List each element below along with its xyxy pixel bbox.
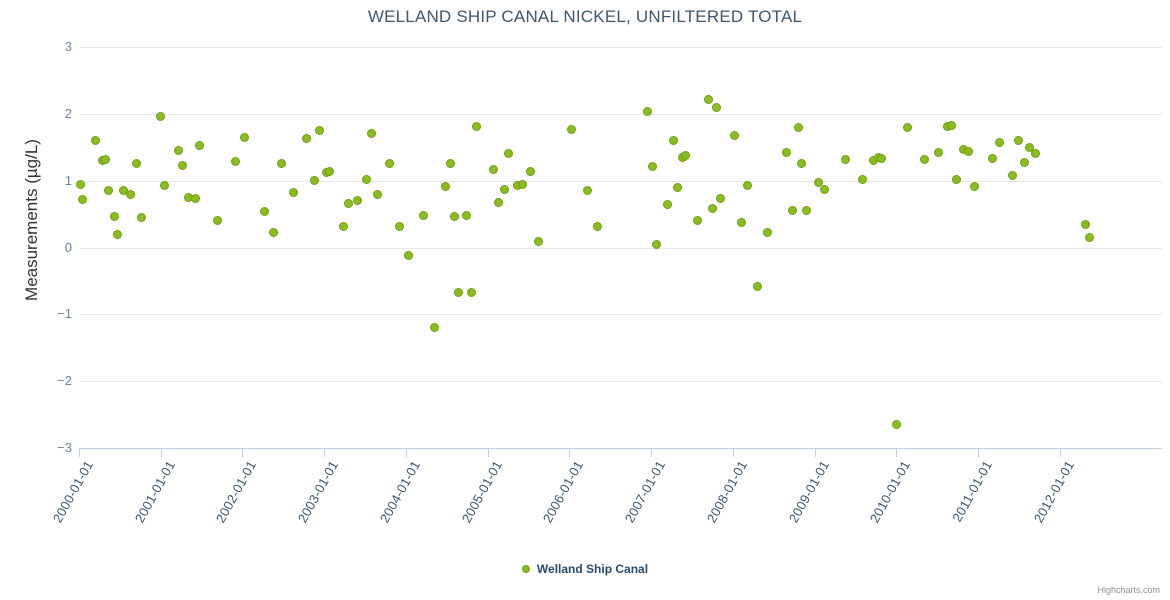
x-axis-tick-label: 2012-01-01 xyxy=(1021,458,1077,542)
y-axis-tick-label: 1 xyxy=(26,173,72,188)
data-point[interactable] xyxy=(820,185,829,194)
data-point[interactable] xyxy=(446,159,455,168)
y-axis-tick-label: 2 xyxy=(26,106,72,121)
x-axis-tick-label: 2005-01-01 xyxy=(449,458,505,542)
data-point[interactable] xyxy=(277,159,286,168)
x-axis-tick-mark xyxy=(488,449,489,457)
data-point[interactable] xyxy=(269,228,278,237)
data-point[interactable] xyxy=(156,112,165,121)
x-axis-tick-mark xyxy=(79,449,80,457)
data-point[interactable] xyxy=(132,159,141,168)
data-point[interactable] xyxy=(1031,149,1040,158)
data-point[interactable] xyxy=(76,180,85,189)
data-point[interactable] xyxy=(113,230,122,239)
x-axis-tick-label: 2003-01-01 xyxy=(286,458,342,542)
data-point[interactable] xyxy=(325,167,334,176)
data-point[interactable] xyxy=(583,186,592,195)
x-axis-tick-label: 2009-01-01 xyxy=(776,458,832,542)
data-point[interactable] xyxy=(289,188,298,197)
x-axis-tick-mark xyxy=(569,449,570,457)
x-axis-tick-label: 2007-01-01 xyxy=(612,458,668,542)
data-point[interactable] xyxy=(663,200,672,209)
x-axis-tick-mark xyxy=(242,449,243,457)
data-point[interactable] xyxy=(877,154,886,163)
x-axis-tick-label: 2004-01-01 xyxy=(367,458,423,542)
data-point[interactable] xyxy=(952,175,961,184)
data-point[interactable] xyxy=(995,138,1004,147)
y-axis-tick-labels: 3210−1−2−3 xyxy=(16,47,72,448)
data-point[interactable] xyxy=(302,134,311,143)
data-point[interactable] xyxy=(195,141,204,150)
data-point[interactable] xyxy=(240,133,249,142)
data-point[interactable] xyxy=(782,148,791,157)
x-axis-tick-mark xyxy=(978,449,979,457)
data-point[interactable] xyxy=(110,212,119,221)
data-point[interactable] xyxy=(353,196,362,205)
data-point[interactable] xyxy=(737,218,746,227)
data-point[interactable] xyxy=(964,147,973,156)
data-point[interactable] xyxy=(730,131,739,140)
legend-item[interactable]: Welland Ship Canal xyxy=(522,562,648,576)
data-point[interactable] xyxy=(712,103,721,112)
data-point[interactable] xyxy=(534,237,543,246)
x-axis-tick-mark xyxy=(324,449,325,457)
data-point[interactable] xyxy=(970,182,979,191)
data-point[interactable] xyxy=(462,211,471,220)
data-point[interactable] xyxy=(191,194,200,203)
data-point[interactable] xyxy=(1020,158,1029,167)
data-point[interactable] xyxy=(78,195,87,204)
y-axis-tick-label: 3 xyxy=(26,39,72,54)
data-point[interactable] xyxy=(708,204,717,213)
data-point[interactable] xyxy=(526,167,535,176)
data-point[interactable] xyxy=(500,185,509,194)
data-point[interactable] xyxy=(160,181,169,190)
data-point[interactable] xyxy=(1008,171,1017,180)
data-point[interactable] xyxy=(858,175,867,184)
y-axis-tick-label: −3 xyxy=(26,440,72,455)
data-point[interactable] xyxy=(704,95,713,104)
data-point[interactable] xyxy=(91,136,100,145)
data-point[interactable] xyxy=(137,213,146,222)
data-point[interactable] xyxy=(903,123,912,132)
gridline xyxy=(79,381,1162,382)
data-point[interactable] xyxy=(1085,233,1094,242)
x-axis-tick-mark xyxy=(815,449,816,457)
data-point[interactable] xyxy=(467,288,476,297)
data-point[interactable] xyxy=(362,175,371,184)
data-point[interactable] xyxy=(652,240,661,249)
data-point[interactable] xyxy=(419,211,428,220)
x-axis-tick-label: 2002-01-01 xyxy=(204,458,260,542)
data-point[interactable] xyxy=(794,123,803,132)
x-axis-tick-mark xyxy=(896,449,897,457)
data-point[interactable] xyxy=(126,190,135,199)
credits-label: Highcharts.com xyxy=(1097,585,1160,595)
data-point[interactable] xyxy=(1081,220,1090,229)
data-point[interactable] xyxy=(788,206,797,215)
chart-title: WELLAND SHIP CANAL NICKEL, UNFILTERED TO… xyxy=(0,7,1170,27)
legend: Welland Ship Canal xyxy=(0,562,1170,576)
data-point[interactable] xyxy=(213,216,222,225)
chart-container: WELLAND SHIP CANAL NICKEL, UNFILTERED TO… xyxy=(0,0,1170,600)
data-point[interactable] xyxy=(593,222,602,231)
data-point[interactable] xyxy=(494,198,503,207)
gridline xyxy=(79,181,1162,182)
plot-area xyxy=(79,47,1162,448)
data-point[interactable] xyxy=(1014,136,1023,145)
data-point[interactable] xyxy=(797,159,806,168)
y-axis-tick-label: 0 xyxy=(26,240,72,255)
data-point[interactable] xyxy=(947,121,956,130)
data-point[interactable] xyxy=(310,176,319,185)
x-axis-tick-label: 2006-01-01 xyxy=(531,458,587,542)
data-point[interactable] xyxy=(743,181,752,190)
gridline xyxy=(79,114,1162,115)
data-point[interactable] xyxy=(385,159,394,168)
data-point[interactable] xyxy=(681,151,690,160)
x-axis-tick-mark xyxy=(1060,449,1061,457)
x-axis-tick-label: 2000-01-01 xyxy=(40,458,96,542)
x-axis-tick-label: 2010-01-01 xyxy=(858,458,914,542)
data-point[interactable] xyxy=(489,165,498,174)
data-point[interactable] xyxy=(920,155,929,164)
gridline xyxy=(79,314,1162,315)
data-point[interactable] xyxy=(504,149,513,158)
x-axis-tick-label: 2008-01-01 xyxy=(694,458,750,542)
data-point[interactable] xyxy=(669,136,678,145)
gridline xyxy=(79,47,1162,48)
y-axis-tick-label: −2 xyxy=(26,373,72,388)
data-point[interactable] xyxy=(934,148,943,157)
data-point[interactable] xyxy=(373,190,382,199)
x-axis-tick-label: 2001-01-01 xyxy=(122,458,178,542)
data-point[interactable] xyxy=(260,207,269,216)
data-point[interactable] xyxy=(643,107,652,116)
data-point[interactable] xyxy=(693,216,702,225)
data-point[interactable] xyxy=(450,212,459,221)
data-point[interactable] xyxy=(441,182,450,191)
legend-marker-icon xyxy=(522,565,530,573)
data-point[interactable] xyxy=(231,157,240,166)
x-axis-tick-mark xyxy=(161,449,162,457)
data-point[interactable] xyxy=(344,199,353,208)
x-axis-line xyxy=(79,448,1162,449)
data-point[interactable] xyxy=(430,323,439,332)
data-point[interactable] xyxy=(763,228,772,237)
data-point[interactable] xyxy=(315,126,324,135)
data-point[interactable] xyxy=(395,222,404,231)
x-axis-tick-label: 2011-01-01 xyxy=(939,458,995,542)
data-point[interactable] xyxy=(454,288,463,297)
legend-item-label: Welland Ship Canal xyxy=(537,562,648,576)
data-point[interactable] xyxy=(841,155,850,164)
x-axis-tick-mark xyxy=(733,449,734,457)
data-point[interactable] xyxy=(178,161,187,170)
data-point[interactable] xyxy=(472,122,481,131)
x-axis-tick-mark xyxy=(406,449,407,457)
data-point[interactable] xyxy=(339,222,348,231)
y-axis-tick-label: −1 xyxy=(26,306,72,321)
data-point[interactable] xyxy=(101,155,110,164)
data-point[interactable] xyxy=(518,180,527,189)
data-point[interactable] xyxy=(892,420,901,429)
data-point[interactable] xyxy=(802,206,811,215)
data-point[interactable] xyxy=(988,154,997,163)
data-point[interactable] xyxy=(673,183,682,192)
data-point[interactable] xyxy=(104,186,113,195)
data-point[interactable] xyxy=(648,162,657,171)
data-point[interactable] xyxy=(367,129,376,138)
data-point[interactable] xyxy=(567,125,576,134)
x-axis-tick-mark xyxy=(651,449,652,457)
data-point[interactable] xyxy=(174,146,183,155)
data-point[interactable] xyxy=(404,251,413,260)
data-point[interactable] xyxy=(753,282,762,291)
gridline xyxy=(79,248,1162,249)
data-point[interactable] xyxy=(716,194,725,203)
